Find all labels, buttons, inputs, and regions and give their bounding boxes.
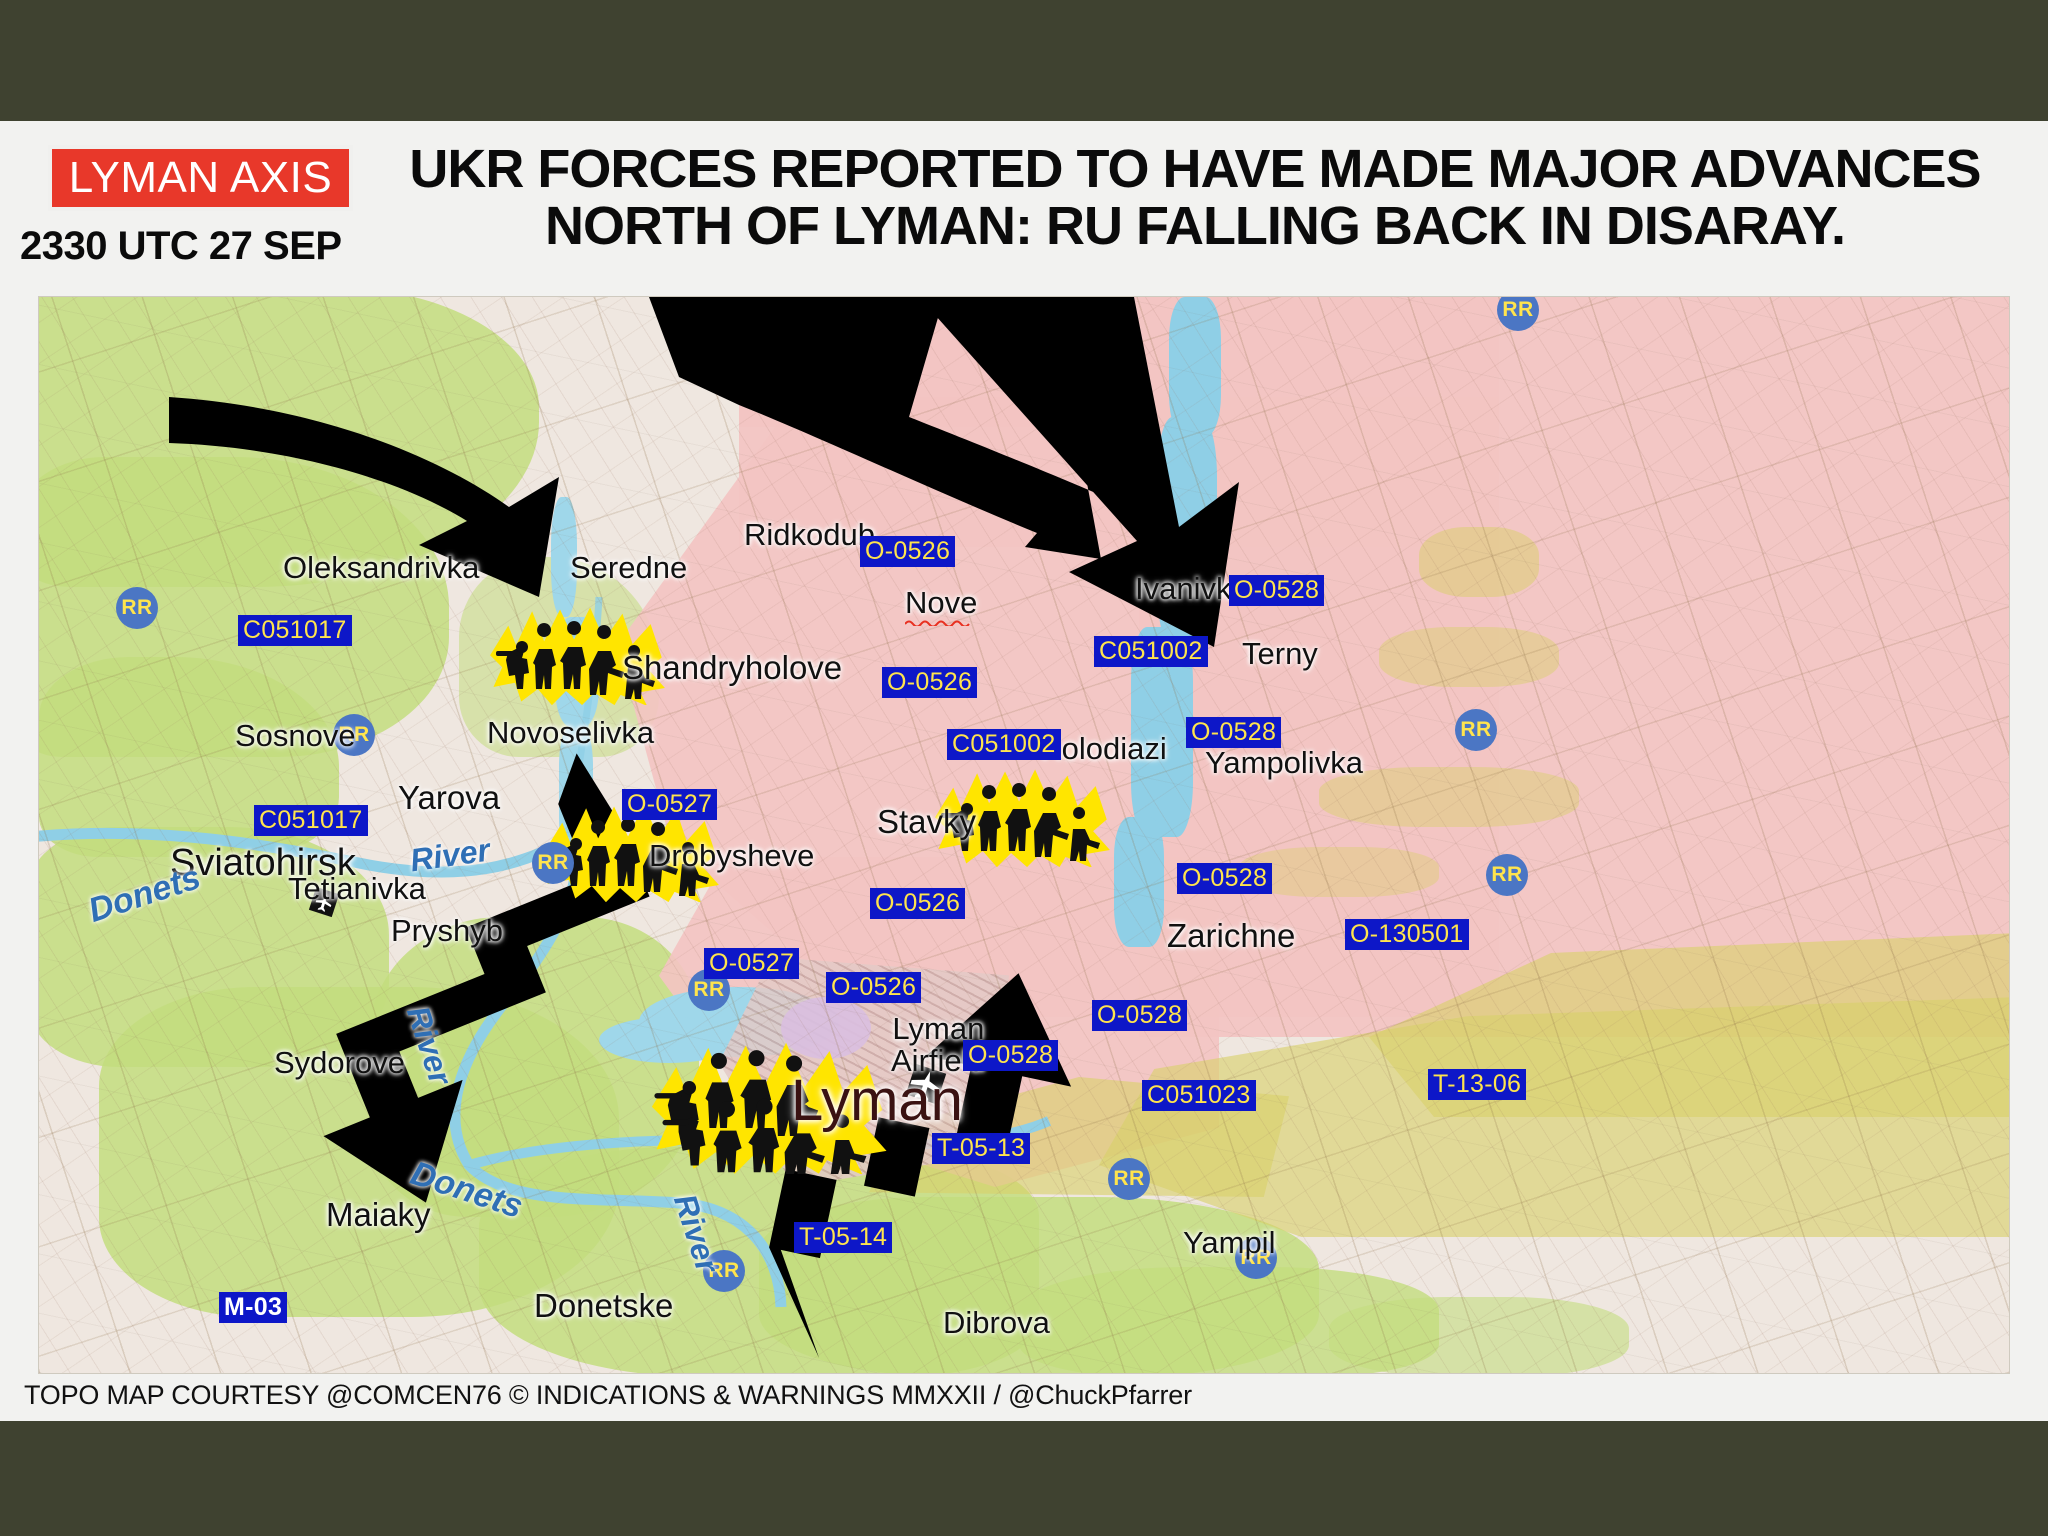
situation-map[interactable]: RR RR RR RR RR RR RR RR RR RR (38, 296, 2010, 1374)
place-label-tetianivka: Tetianivka (288, 871, 426, 907)
road-shield[interactable]: O-0526 (826, 972, 921, 1003)
road-shield-m03[interactable]: M-03 (219, 1292, 287, 1323)
place-label-maiaky: Maiaky (326, 1196, 431, 1234)
road-shield[interactable]: C051002 (1094, 636, 1208, 667)
road-shield[interactable]: O-0526 (860, 536, 955, 567)
place-label-zarichne: Zarichne (1167, 917, 1295, 955)
place-label-ridkodub: Ridkodub (744, 517, 875, 553)
road-shield[interactable]: T-05-13 (932, 1133, 1030, 1164)
road-shield[interactable]: O-0527 (704, 948, 799, 979)
place-label-drobysheve: Drobysheve (649, 838, 814, 874)
road-shield[interactable]: C051017 (254, 805, 368, 836)
road-shield[interactable]: O-0526 (882, 667, 977, 698)
header: LYMAN AXIS 2330 UTC 27 SEP UKR FORCES RE… (0, 121, 2048, 296)
road-shield[interactable]: O-0527 (622, 789, 717, 820)
headline-line-2: NORTH OF LYMAN: RU FALLING BACK IN DISAR… (350, 198, 2040, 255)
road-shield[interactable]: T-13-06 (1428, 1069, 1526, 1100)
place-label-oleksandrivka: Oleksandrivka (283, 550, 479, 586)
place-label-donetske: Donetske (534, 1287, 673, 1325)
axis-badge: LYMAN AXIS (48, 145, 353, 211)
road-shield[interactable]: C051023 (1142, 1080, 1256, 1111)
page-title: UKR FORCES REPORTED TO HAVE MADE MAJOR A… (350, 141, 2040, 255)
place-label-dibrova: Dibrova (943, 1305, 1050, 1341)
place-label-yampil: Yampil (1183, 1225, 1275, 1261)
slide-root: LYMAN AXIS 2330 UTC 27 SEP UKR FORCES RE… (0, 0, 2048, 1536)
place-label-nove: Nove (905, 585, 977, 621)
road-shield[interactable]: O-0528 (963, 1040, 1058, 1071)
road-shield[interactable]: C051017 (238, 615, 352, 646)
road-shield[interactable]: O-0528 (1177, 863, 1272, 894)
river-label-river-2: River (399, 1002, 459, 1090)
spellcheck-underline-nove (905, 619, 973, 626)
place-label-yarova: Yarova (398, 779, 500, 817)
place-label-seredne: Seredne (570, 550, 687, 586)
place-label-sydorove: Sydorove (274, 1045, 405, 1081)
timestamp-label: 2330 UTC 27 SEP (20, 224, 342, 269)
road-shield[interactable]: O-0528 (1092, 1000, 1187, 1031)
place-label-yampolivka: Yampolivka (1205, 745, 1363, 781)
road-shield[interactable]: C051002 (947, 729, 1061, 760)
road-shield[interactable]: O-130501 (1345, 919, 1469, 950)
road-shield[interactable]: T-05-14 (794, 1222, 892, 1253)
road-shield[interactable]: O-0526 (870, 888, 965, 919)
place-label-shandryholove: Shandryholove (622, 649, 842, 687)
headline-line-1: UKR FORCES REPORTED TO HAVE MADE MAJOR A… (409, 139, 1980, 199)
axis-badge-label: LYMAN AXIS (69, 153, 332, 203)
credit-line: TOPO MAP COURTESY @COMCEN76 © INDICATION… (24, 1380, 1192, 1411)
place-label-sosnove: Sosnove (235, 718, 356, 754)
river-label-donets: Donets (84, 858, 206, 931)
river-label-river-3: River (666, 1190, 726, 1278)
place-label-stavky: Stavky (877, 803, 976, 841)
place-label-terny: Terny (1242, 636, 1318, 672)
label-layer: Oleksandrivka Seredne Ridkodub Nove Ivan… (39, 297, 2009, 1373)
river-label-river-1: River (408, 832, 492, 880)
road-shield[interactable]: O-0528 (1186, 717, 1281, 748)
road-shield[interactable]: O-0528 (1229, 575, 1324, 606)
place-label-novoselivka: Novoselivka (487, 715, 654, 751)
place-label-pryshyb: Pryshyb (391, 913, 503, 949)
